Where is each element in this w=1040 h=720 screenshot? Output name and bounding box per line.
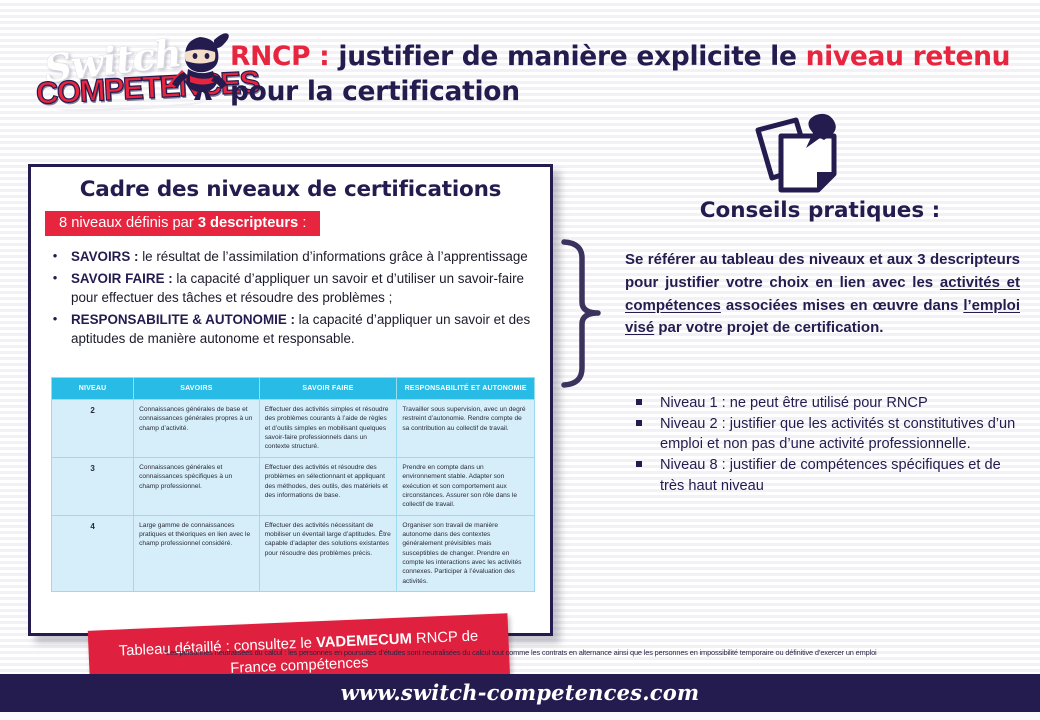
advice-text-3: par votre projet de certification.: [654, 319, 883, 336]
footer-bottom-strip: [0, 712, 1040, 720]
badge-strong: 3 descripteurs: [198, 215, 298, 231]
conseils-title: Conseils pratiques :: [600, 198, 1040, 223]
cell-savoirs: Connaissances générales et connaissances…: [134, 457, 260, 515]
column-header-savoir-faire: SAVOIR FAIRE: [259, 378, 397, 400]
column-header-responsabilite: RESPONSABILITÉ ET AUTONOMIE: [397, 378, 535, 400]
brand-logo[interactable]: Switch COMPETENCES: [36, 22, 226, 110]
cell-niveau: 2: [52, 400, 134, 458]
cell-savoir-faire: Effectuer des activités nécessitant de m…: [259, 515, 397, 592]
infographic-page: Switch COMPETENCES RNCP : justifier de m…: [0, 0, 1040, 720]
cell-savoir-faire: Effectuer des activités simples et résou…: [259, 400, 397, 458]
footnote: *Les personnes neutralisées du calcul : …: [0, 648, 1040, 657]
badge-suffix: :: [298, 215, 306, 231]
pinned-notes-icon: [748, 112, 862, 194]
cell-savoirs: Connaissances générales de base et conna…: [134, 400, 260, 458]
page-header: Switch COMPETENCES RNCP : justifier de m…: [0, 0, 1040, 120]
advice-paragraph: Se référer au tableau des niveaux et aux…: [625, 249, 1020, 340]
list-item: • RESPONSABILITE & AUTONOMIE : la capaci…: [47, 310, 534, 349]
descriptors-list: • SAVOIRS : le résultat de l’assimilatio…: [47, 247, 534, 349]
footer-website-url[interactable]: www.switch-competences.com: [0, 674, 1040, 712]
bullet-dot-icon: •: [47, 310, 63, 349]
cell-niveau: 4: [52, 515, 134, 592]
table-row: 3 Connaissances générales et connaissanc…: [52, 457, 535, 515]
cell-responsabilite: Travailler sous supervision, avec un deg…: [397, 400, 535, 458]
list-item: Niveau 2 : justifier que les activités s…: [636, 414, 1026, 454]
title-highlight-2: niveau retenu: [806, 41, 1011, 72]
cell-responsabilite: Prendre en compte dans un environnement …: [397, 457, 535, 515]
bullet-lead: SAVOIRS :: [71, 249, 138, 264]
square-bullet-icon: [636, 393, 650, 413]
descriptors-badge: 8 niveaux définis par 3 descripteurs :: [45, 211, 320, 236]
certification-framework-card: Cadre des niveaux de certifications 8 ni…: [28, 164, 553, 636]
cell-savoir-faire: Effectuer des activités et résoudre des …: [259, 457, 397, 515]
list-item: • SAVOIR FAIRE : la capacité d’appliquer…: [47, 269, 534, 308]
table-header-row: NIVEAU SAVOIRS SAVOIR FAIRE RESPONSABILI…: [52, 378, 535, 400]
page-title: RNCP : justifier de manière explicite le…: [230, 40, 1020, 110]
cell-savoirs: Large gamme de connaissances pratiques e…: [134, 515, 260, 592]
advice-text-2: associées mises en œuvre dans: [721, 297, 963, 314]
column-header-niveau: NIVEAU: [52, 378, 134, 400]
square-bullet-icon: [636, 414, 650, 454]
table-row: 4 Large gamme de connaissances pratiques…: [52, 515, 535, 592]
column-header-savoirs: SAVOIRS: [134, 378, 260, 400]
cell-niveau: 3: [52, 457, 134, 515]
level-note-text: Niveau 1 : ne peut être utilisé pour RNC…: [660, 393, 1026, 413]
levels-table-wrapper: NIVEAU SAVOIRS SAVOIR FAIRE RESPONSABILI…: [51, 377, 535, 592]
footer-bar: www.switch-competences.com: [0, 674, 1040, 712]
title-text-2: pour la certification: [230, 76, 520, 107]
bullet-dot-icon: •: [47, 247, 63, 267]
levels-table: NIVEAU SAVOIRS SAVOIR FAIRE RESPONSABILI…: [51, 377, 535, 592]
cell-responsabilite: Organiser son travail de manière autonom…: [397, 515, 535, 592]
bullet-lead: RESPONSABILITE & AUTONOMIE :: [71, 312, 295, 327]
level-note-text: Niveau 2 : justifier que les activités s…: [660, 414, 1026, 454]
bullet-text: le résultat de l’assimilation d’informat…: [138, 249, 527, 264]
bullet-dot-icon: •: [47, 269, 63, 308]
card-title: Cadre des niveaux de certifications: [31, 177, 550, 202]
title-text-1: justifier de manière explicite le: [329, 41, 805, 72]
table-row: 2 Connaissances générales de base et con…: [52, 400, 535, 458]
badge-prefix: 8 niveaux définis par: [59, 215, 198, 231]
list-item: • SAVOIRS : le résultat de l’assimilatio…: [47, 247, 534, 267]
bullet-lead: SAVOIR FAIRE :: [71, 271, 173, 286]
curly-brace-icon: [558, 238, 604, 388]
list-item: Niveau 1 : ne peut être utilisé pour RNC…: [636, 393, 1026, 413]
square-bullet-icon: [636, 455, 650, 495]
level-notes-list: Niveau 1 : ne peut être utilisé pour RNC…: [636, 393, 1026, 497]
list-item: Niveau 8 : justifier de compétences spéc…: [636, 455, 1026, 495]
level-note-text: Niveau 8 : justifier de compétences spéc…: [660, 455, 1026, 495]
title-highlight-1: RNCP :: [230, 41, 329, 72]
ninja-mascot-icon: [154, 28, 230, 100]
